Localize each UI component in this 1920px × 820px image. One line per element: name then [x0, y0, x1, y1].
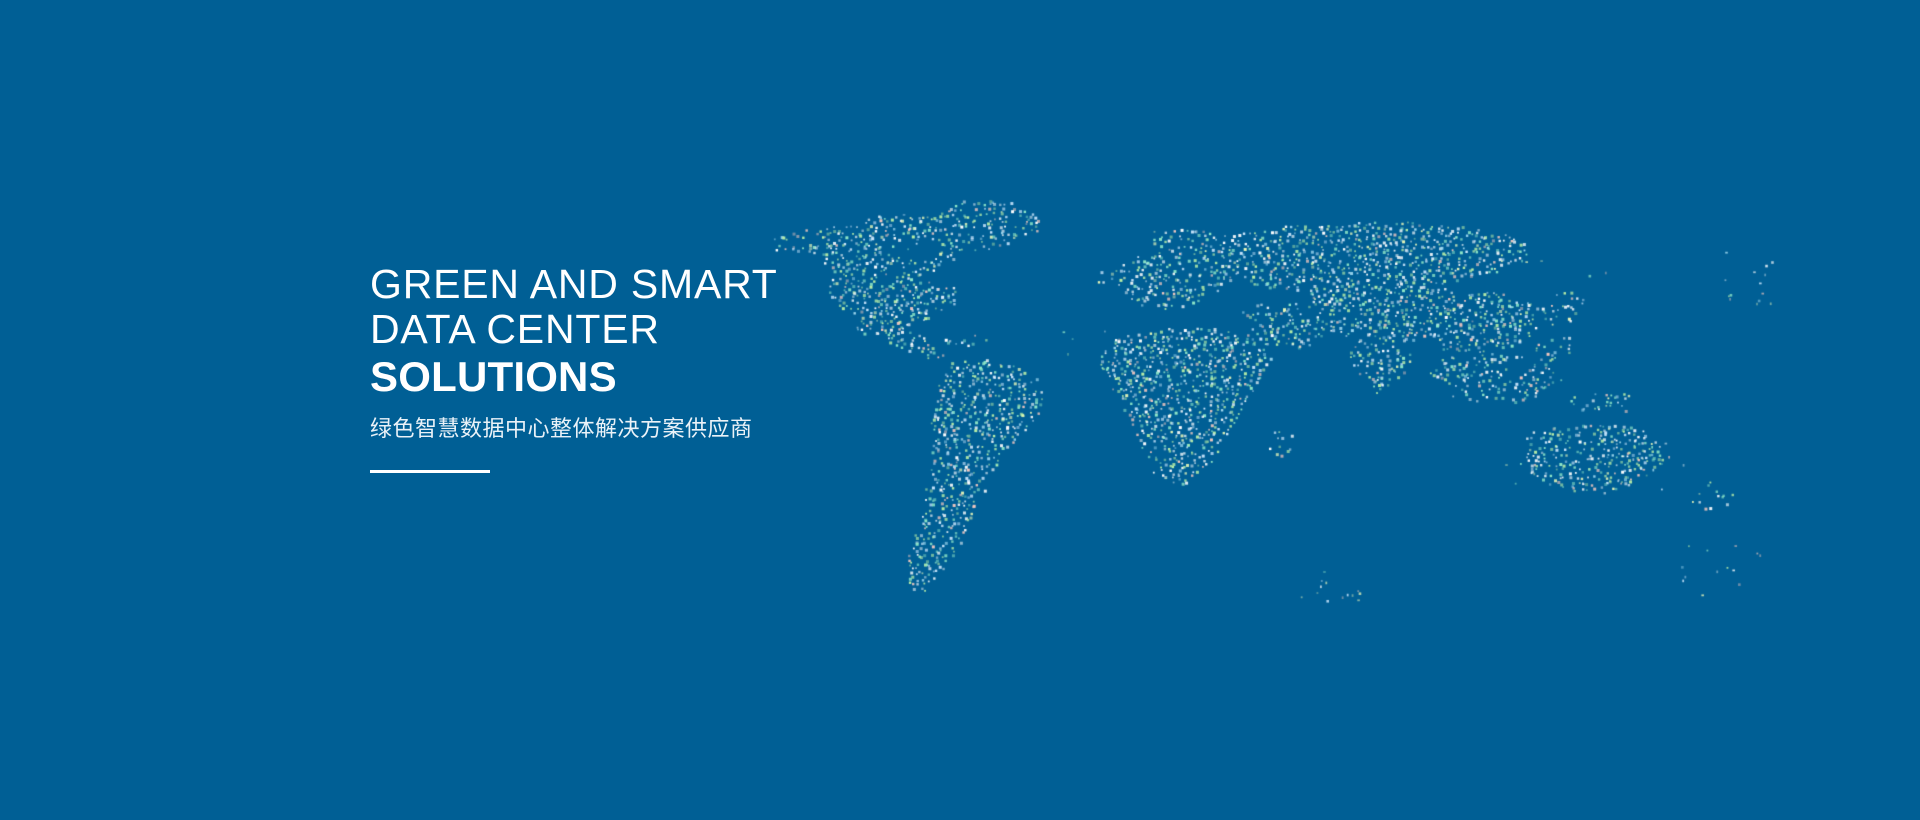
hero-text-block: GREEN AND SMART DATA CENTER SOLUTIONS 绿色… — [370, 262, 1130, 473]
hero-banner: GREEN AND SMART DATA CENTER SOLUTIONS 绿色… — [0, 0, 1920, 820]
headline-line-1: GREEN AND SMART — [370, 262, 1130, 307]
divider-rule — [370, 470, 490, 473]
headline-line-3: SOLUTIONS — [370, 352, 1130, 401]
hero-subtitle: 绿色智慧数据中心整体解决方案供应商 — [370, 414, 1130, 444]
headline-line-2: DATA CENTER — [370, 307, 1130, 352]
